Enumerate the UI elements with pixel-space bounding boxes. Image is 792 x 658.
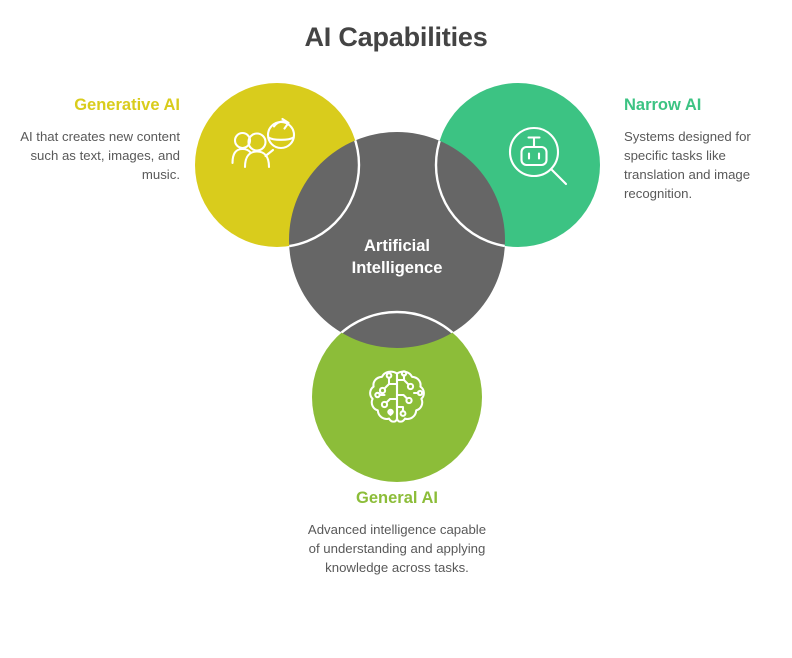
callout-general: General AI Advanced intelligence capable…	[306, 489, 488, 577]
callout-narrow-title: Narrow AI	[624, 96, 790, 116]
callout-narrow: Narrow AI Systems designed for specific …	[624, 96, 790, 203]
callout-general-body: Advanced intelligence capable of underst…	[306, 520, 488, 577]
callout-generative-body: AI that creates new content such as text…	[14, 127, 180, 184]
callout-narrow-body: Systems designed for specific tasks like…	[624, 127, 790, 203]
callout-general-title: General AI	[306, 489, 488, 509]
circle-center[interactable]	[289, 132, 505, 348]
callout-generative-title: Generative AI	[14, 96, 180, 116]
callout-generative: Generative AI AI that creates new conten…	[14, 96, 180, 184]
diagram-canvas: AI Capabilities Artificial Intelligence	[0, 0, 792, 658]
